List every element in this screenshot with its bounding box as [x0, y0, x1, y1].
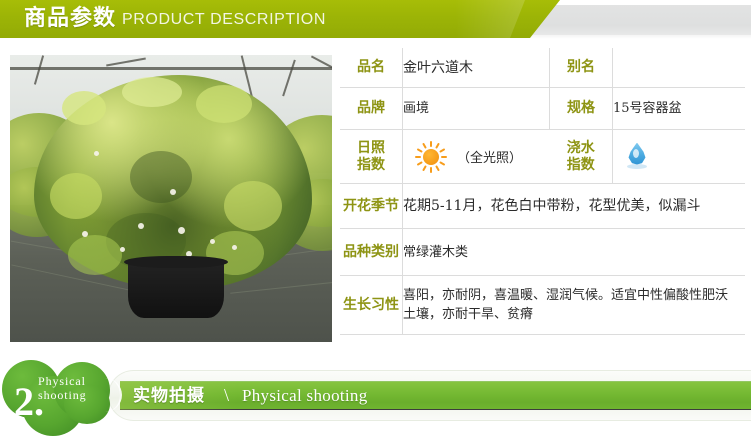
spec-label-pinpai: 品牌: [340, 88, 403, 130]
flower: [82, 231, 88, 237]
foliage-highlight: [62, 91, 106, 125]
page-title-en: PRODUCT DESCRIPTION: [122, 9, 326, 31]
sun-ray: [422, 142, 427, 148]
water-drop-icon: [624, 141, 650, 173]
flower: [120, 247, 125, 252]
spec-value-rizhao: （全光照）: [403, 130, 550, 184]
greenhouse-beam: [10, 67, 332, 70]
table-row: 品名 金叶六道木 别名: [340, 48, 745, 88]
sun-ray: [435, 142, 440, 148]
spec-value-jiaoshui: [613, 130, 746, 184]
spec-label-rizhao: 日照 指数: [340, 130, 403, 184]
footer-label-cn: 实物拍摄: [133, 384, 205, 408]
foliage-highlight: [196, 85, 252, 123]
sun-ray: [441, 156, 447, 158]
sun-ray: [422, 165, 427, 171]
pot-rim: [124, 256, 228, 268]
table-row: 开花季节 花期5-11月，花色白中带粉，花型优美，似漏斗: [340, 184, 745, 229]
foliage-highlight: [224, 181, 282, 231]
sunlight-level-label: （全光照）: [457, 147, 522, 166]
sun-core: [423, 149, 439, 165]
footer-separator: \: [224, 383, 229, 408]
spec-label-shengzhang: 生长习性: [340, 276, 403, 335]
spec-value-guige: 15号容器盆: [613, 88, 746, 130]
footer-label-en: Physical shooting: [242, 384, 368, 408]
flower: [232, 245, 237, 250]
table-row: 生长习性 喜阳，亦耐阴，喜温暖、湿润气候。适宜中性偏酸性肥沃土壤，亦耐干旱、贫瘠: [340, 276, 745, 335]
spec-value-pinpai: 画境: [403, 88, 550, 130]
section-footer: 实物拍摄 \ Physical shooting 2. Physical sho…: [0, 358, 751, 437]
section-header: 商品参数 PRODUCT DESCRIPTION: [0, 0, 751, 45]
flower: [178, 227, 185, 234]
drop-highlight: [633, 149, 639, 158]
spec-label-kaihua: 开花季节: [340, 184, 403, 229]
table-row: 日照 指数: [340, 130, 745, 184]
spec-value-shengzhang: 喜阳，亦耐阴，喜温暖、湿润气候。适宜中性偏酸性肥沃土壤，亦耐干旱、贫瘠: [403, 276, 746, 335]
spec-value-pinzhong: 常绿灌木类: [403, 229, 746, 276]
spec-value-kaihua: 花期5-11月，花色白中带粉，花型优美，似漏斗: [403, 184, 746, 229]
spec-label-guige: 规格: [550, 88, 613, 130]
table-row: 品牌 画境 规格 15号容器盆: [340, 88, 745, 130]
page-title-cn: 商品参数: [24, 4, 116, 34]
drop-shadow: [627, 164, 647, 169]
flower: [210, 239, 215, 244]
spec-value-pinming: 金叶六道木: [403, 48, 550, 88]
foliage-highlight: [50, 173, 102, 219]
product-spec-table: 品名 金叶六道木 别名 品牌 画境 规格 15号容器盆 日照 指数: [340, 48, 745, 335]
foliage-highlight: [68, 235, 122, 275]
sun-ray: [415, 156, 421, 158]
flower: [138, 223, 144, 229]
table-row: 品种类别 常绿灌木类: [340, 229, 745, 276]
badge-caption-line1: Physical: [38, 374, 87, 388]
sun-ray: [439, 148, 445, 153]
spec-label-jiaoshui: 浇水 指数: [550, 130, 613, 184]
sun-ray: [435, 165, 440, 171]
sun-ray: [417, 148, 423, 153]
sun-ray: [417, 161, 423, 166]
sun-icon: [414, 140, 448, 174]
badge-caption-line2: shooting: [38, 388, 87, 402]
product-photo: [10, 55, 332, 342]
spec-label-pinming: 品名: [340, 48, 403, 88]
flower: [94, 151, 99, 156]
sun-ray: [430, 141, 432, 147]
page-root: 商品参数 PRODUCT DESCRIPTION: [0, 0, 751, 437]
foliage-highlight: [122, 77, 182, 107]
sun-ray: [439, 161, 445, 166]
plant-pot: [128, 260, 224, 318]
spec-value-bieming: [613, 48, 746, 88]
spec-label-bieming: 别名: [550, 48, 613, 88]
sun-ray: [430, 167, 432, 173]
spec-label-pinzhong: 品种类别: [340, 229, 403, 276]
foliage-shadow: [130, 151, 192, 203]
badge-caption: Physical shooting: [38, 374, 87, 402]
flower: [170, 189, 176, 195]
